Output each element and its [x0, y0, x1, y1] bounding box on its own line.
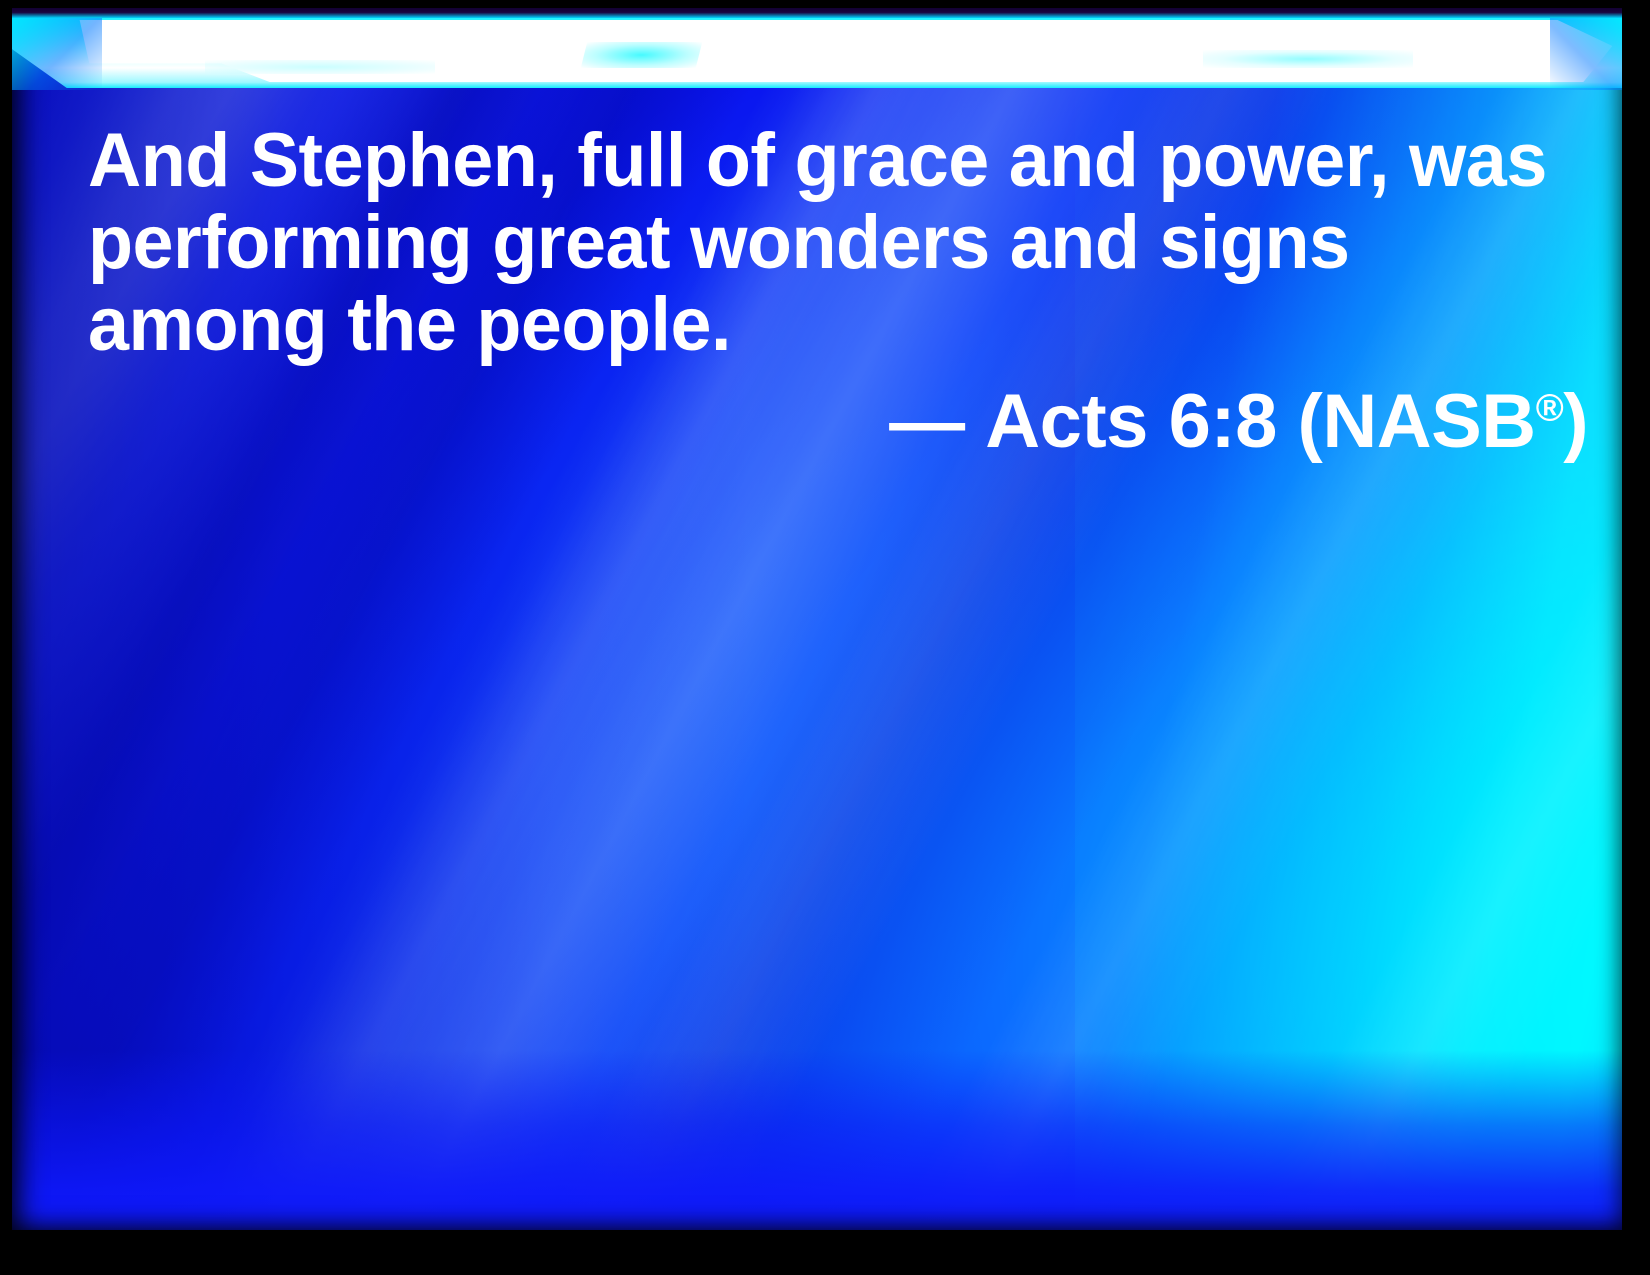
slide-canvas: And Stephen, full of grace and power, wa…	[12, 8, 1622, 1230]
verse-attribution: — Acts 6:8 (NASB®)	[88, 380, 1594, 464]
attribution-translation-close: )	[1563, 379, 1588, 464]
verse-line-3: among the people.	[88, 284, 1543, 366]
attribution-reference: Acts 6:8	[985, 379, 1277, 464]
registered-trademark-icon: ®	[1536, 388, 1564, 430]
attribution-text: — Acts 6:8 (NASB®)	[889, 380, 1588, 464]
background-bottom-wash	[12, 1050, 1622, 1230]
attribution-em-dash: —	[889, 379, 965, 464]
attribution-translation-open: (NASB	[1298, 379, 1536, 464]
verse-slide: And Stephen, full of grace and power, wa…	[0, 0, 1650, 1275]
verse-line-2: performing great wonders and signs	[88, 202, 1543, 284]
verse-line-1: And Stephen, full of grace and power, wa…	[88, 120, 1543, 202]
verse-text-block: And Stephen, full of grace and power, wa…	[88, 120, 1588, 366]
